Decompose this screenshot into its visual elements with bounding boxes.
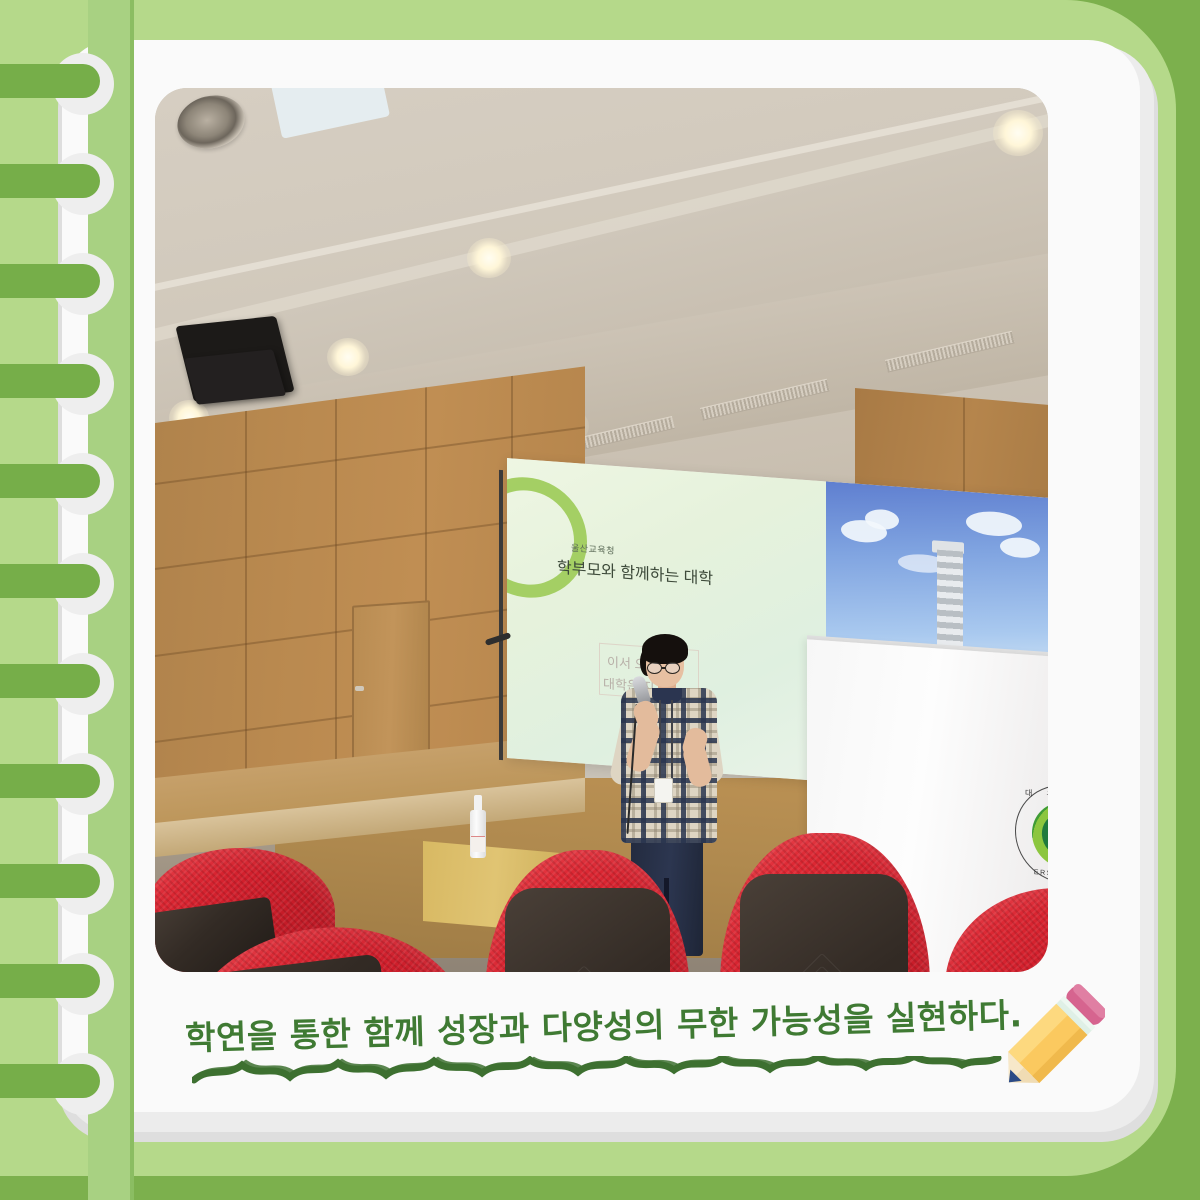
lecture-hall-photo[interactable]: 울산교육청 학부모와 함께하는 대학 이서 오 대학은 지	[155, 88, 1048, 972]
presenter-lanyard-strap	[659, 700, 661, 780]
downlight-icon	[467, 238, 511, 278]
presenter-name-badge	[654, 778, 673, 803]
binding-ring	[0, 964, 100, 998]
presenter-lanyard-strap	[671, 700, 673, 778]
pencil-icon	[975, 965, 1105, 1095]
sanitizer-label	[471, 836, 485, 852]
binding-ring	[0, 1064, 100, 1098]
binding-ring	[0, 264, 100, 298]
binding-ring	[0, 164, 100, 198]
presenter-glasses-left-lens	[647, 662, 662, 674]
binding-ring	[0, 64, 100, 98]
binding-ring	[0, 564, 100, 598]
slide-arc-decoration	[507, 473, 587, 602]
binding-ring	[0, 464, 100, 498]
binding-ring	[0, 764, 100, 798]
binding-ring	[0, 364, 100, 398]
ceiling-speaker-icon	[184, 349, 286, 404]
spiral-binding	[0, 0, 150, 1200]
downlight-icon	[993, 110, 1043, 156]
daegu-university-logo: 대 구 대 학 교 ERSITY 1956	[1015, 782, 1048, 887]
binding-ring	[0, 864, 100, 898]
presenter-glasses-right-lens	[665, 662, 680, 674]
binding-spine-edge	[130, 0, 134, 1200]
downlight-icon	[327, 338, 369, 376]
caption-block: 학연을 통한 함께 성장과 다양성의 무한 가능성을 실현하다.	[185, 1000, 1005, 1060]
caption-text: 학연을 통한 함께 성장과 다양성의 무한 가능성을 실현하다.	[184, 988, 1023, 1059]
presenter-collar	[652, 688, 682, 704]
door-handle-icon[interactable]	[355, 686, 364, 691]
slide-title-text: 학부모와 함께하는 대학	[557, 554, 713, 589]
binding-ring	[0, 664, 100, 698]
logo-text-bottom: ERSITY 1956	[1016, 868, 1048, 882]
presenter-glasses-bridge	[662, 667, 666, 669]
caption-underline-scribble	[192, 1056, 1002, 1086]
presenter-hair	[642, 634, 688, 664]
screen-support-pole	[499, 470, 503, 760]
logo-emblem-inner-icon	[1041, 815, 1048, 855]
